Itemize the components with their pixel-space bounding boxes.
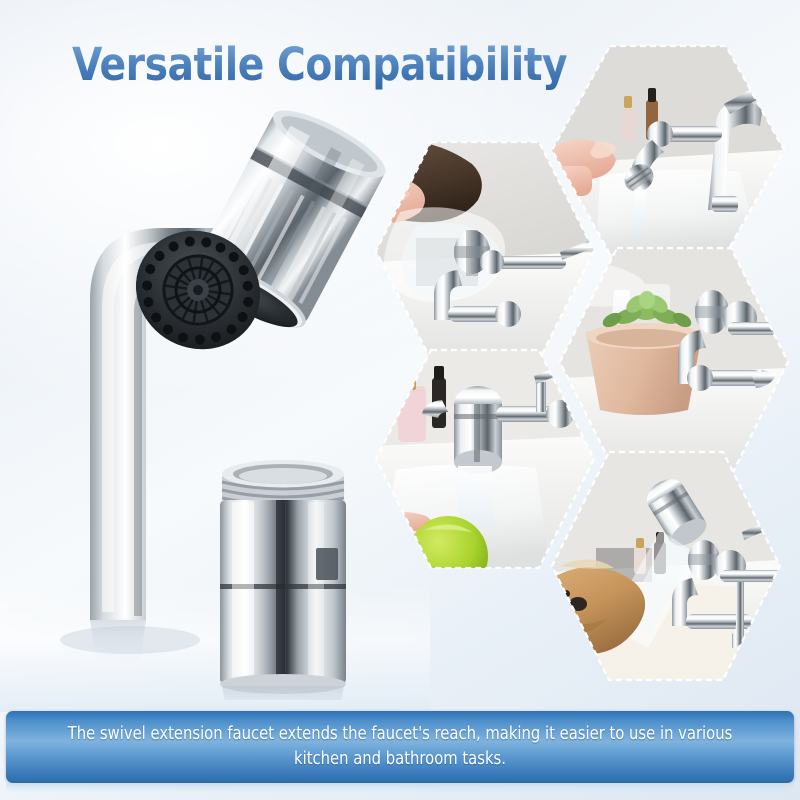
banner-shadow [6,783,794,793]
caption-text: The swivel extension faucet extends the … [43,722,757,772]
hex-tile-hand-adjust [552,46,784,254]
hex-tile-plant-water [560,248,794,476]
hex-tile-face-wash [358,140,594,360]
hexagon-use-case-collage [0,0,800,800]
product-marketing-image: Versatile Compatibility The swivel exten… [0,0,800,800]
page-title: Versatile Compatibility [72,38,567,91]
caption-banner: The swivel extension faucet extends the … [6,711,794,783]
collage-svg [0,0,800,800]
